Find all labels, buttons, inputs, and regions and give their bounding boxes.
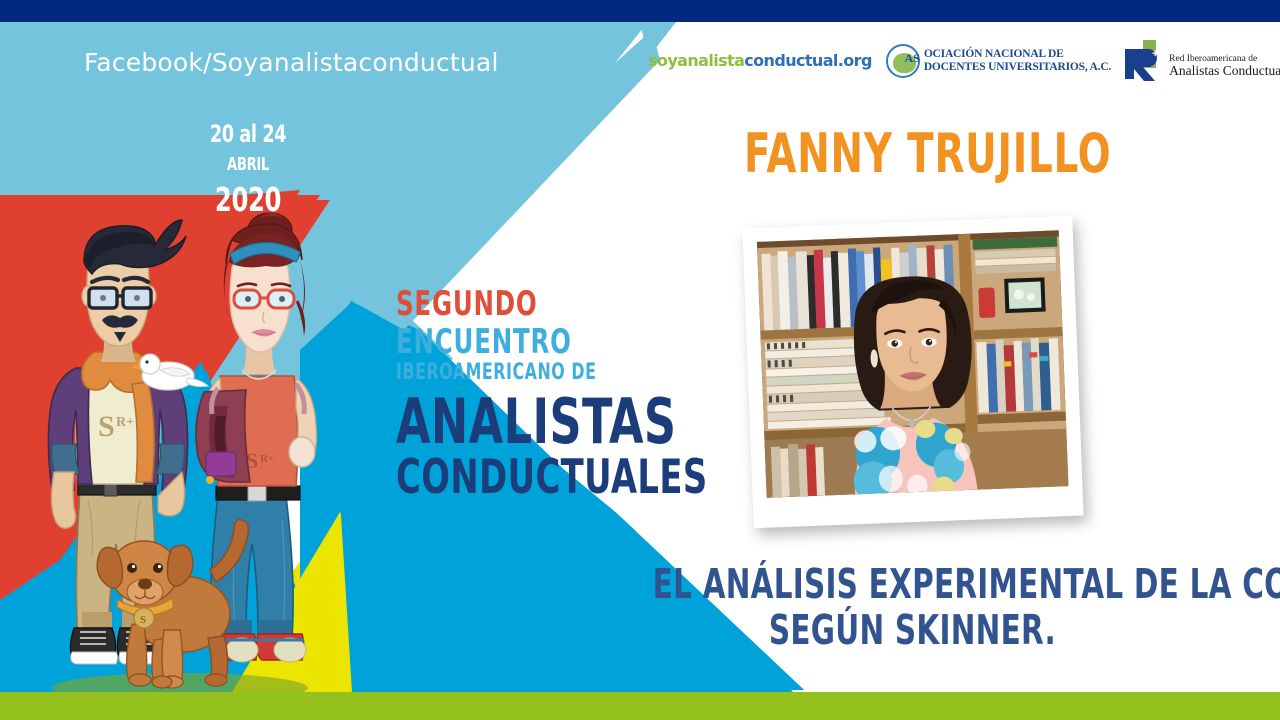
date-month: ABRIL: [227, 154, 269, 175]
andu-circle-icon: [886, 44, 920, 78]
svg-text:S: S: [98, 410, 115, 443]
top-navy-bar: [0, 0, 1280, 22]
svg-text:R+: R+: [116, 415, 134, 430]
talk-title-line2: SEGÚN SKINNER.: [556, 608, 1268, 654]
event-title-line2: ENCUENTRO: [396, 325, 708, 359]
event-date-year: 2020: [191, 180, 306, 219]
svg-text:S: S: [140, 614, 146, 626]
students-illustration: S R+: [20, 200, 340, 700]
bottom-green-bar: [0, 692, 1280, 720]
facebook-handle[interactable]: Facebook/Soyanalistaconductual: [84, 48, 499, 77]
event-title-line4: ANALISTAS: [396, 391, 708, 453]
red-text: Red Iberoamericana de Analistas Conductu…: [1169, 54, 1280, 83]
logo-soy-line1: soyanalista: [648, 53, 744, 69]
logo-soyanalistaconductual[interactable]: soyanalista conductual.org: [648, 53, 872, 69]
svg-text:+: +: [1152, 48, 1158, 60]
speaker-photo-frame: [742, 216, 1083, 528]
event-title-line3: IBEROAMERICANO DE: [396, 362, 708, 384]
event-date-range: 20 al 24 ABRIL: [191, 120, 306, 176]
event-date: 20 al 24 ABRIL 2020: [178, 120, 318, 219]
logo-soy-line2: conductual.org: [744, 53, 872, 69]
event-title-line1: SEGUNDO: [396, 287, 708, 321]
speaker-name-text: FANNY TRUJILLO: [744, 122, 1112, 185]
talk-title: EL ANÁLISIS EXPERIMENTAL DE LA CONDUCTA …: [556, 562, 1268, 654]
talk-title-line1: EL ANÁLISIS EXPERIMENTAL DE LA CONDUCTA: [556, 562, 1268, 608]
andu-text: OCIACIÓN NACIONAL DE DOCENTES UNIVERSITA…: [924, 48, 1111, 74]
svg-text:R+: R+: [260, 453, 274, 465]
sponsor-logo-strip: soyanalista conductual.org OCIACIÓN NACI…: [648, 34, 1280, 88]
date-days: 20 al 24: [210, 120, 286, 148]
andu-line1: OCIACIÓN NACIONAL DE: [924, 48, 1064, 60]
red-r-icon: +: [1125, 39, 1165, 83]
speaker-name: FANNY TRUJILLO: [640, 122, 1216, 185]
event-title-block: SEGUNDO ENCUENTRO IBEROAMERICANO DE ANAL…: [396, 287, 786, 501]
logo-andu[interactable]: OCIACIÓN NACIONAL DE DOCENTES UNIVERSITA…: [886, 44, 1111, 78]
speaker-photo: [757, 230, 1069, 497]
andu-line2: DOCENTES UNIVERSITARIOS, A.C.: [924, 61, 1111, 73]
poster-canvas: soyanalista conductual.org OCIACIÓN NACI…: [0, 0, 1280, 720]
event-title-line5: CONDUCTUALES: [396, 454, 708, 501]
logo-red-iberoamericana[interactable]: + Red Iberoamericana de Analistas Conduc…: [1125, 39, 1280, 83]
red-line2: Analistas Conductuales: [1169, 64, 1280, 79]
